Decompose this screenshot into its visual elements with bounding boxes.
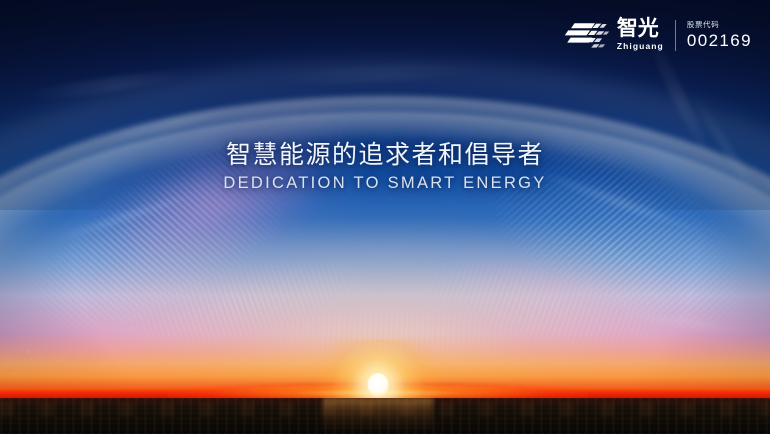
stock-code-group: 股票代码 002169: [687, 20, 752, 51]
zhiguang-wave-mark-icon: [564, 20, 610, 50]
logo-wordmark: 智光 Zhiguang: [617, 18, 664, 52]
stock-code-value: 002169: [687, 31, 752, 51]
stock-code-label: 股票代码: [687, 20, 719, 30]
company-logo[interactable]: 智光 Zhiguang: [564, 18, 664, 52]
logo-name-chinese: 智光: [617, 18, 659, 40]
brand-divider: [675, 20, 676, 51]
sky-gradient-background: [0, 0, 770, 434]
brand-bar[interactable]: 智光 Zhiguang 股票代码 002169: [564, 18, 752, 52]
hero-banner: 智慧能源的追求者和倡导者 DEDICATION TO SMART ENERGY: [0, 0, 770, 434]
logo-name-pinyin: Zhiguang: [617, 41, 664, 52]
